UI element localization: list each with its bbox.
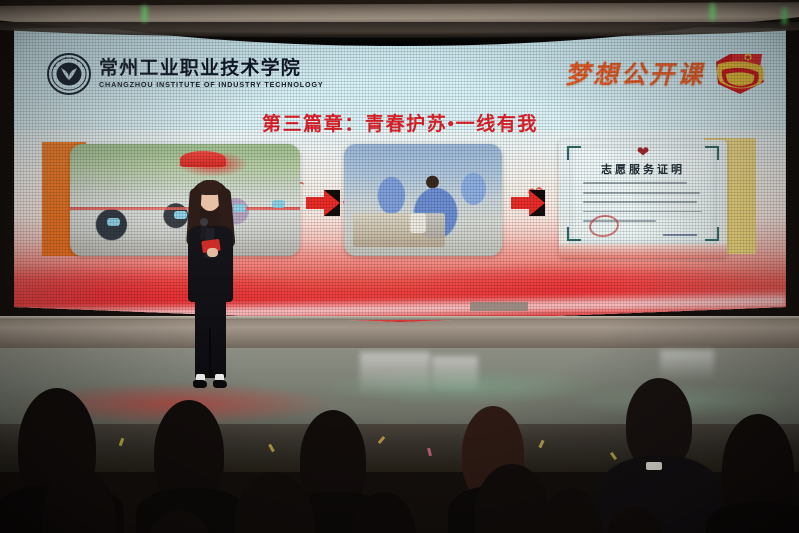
program-brand-block: 梦想公开课: [565, 48, 768, 98]
screen-gray-marker: [470, 302, 528, 311]
speaker-on-stage: [176, 178, 244, 390]
auditorium-scene: 常州工业职业技术学院 CHANGZHOU INSTITUTE OF INDUST…: [0, 0, 799, 533]
canopy-shape: [180, 151, 226, 167]
institution-name-en: CHANGZHOU INSTITUTE OF INDUSTRY TECHNOLO…: [99, 81, 324, 88]
certificate-corner: [567, 146, 581, 160]
certificate-corner: [705, 146, 719, 160]
certificate-text-line: [583, 182, 687, 184]
floor-reflection: [660, 350, 714, 380]
microphone-head-icon: [200, 218, 208, 226]
photo-medical-workers: [344, 144, 502, 256]
supply-table: [353, 213, 445, 247]
certificate-text-line: [583, 201, 697, 203]
stage-edge: [0, 316, 799, 320]
institution-logo-block: 常州工业职业技术学院 CHANGZHOU INSTITUTE OF INDUST…: [46, 52, 324, 96]
led-video-wall: 常州工业职业技术学院 CHANGZHOU INSTITUTE OF INDUST…: [14, 22, 786, 322]
arrow-right-icon: [306, 190, 340, 216]
certificate-footer-art: [559, 244, 727, 258]
certificate-text-line: [583, 192, 701, 194]
communist-youth-league-emblem-icon: [710, 48, 768, 98]
ceiling-light-icon: [142, 6, 147, 22]
program-brand-text: 梦想公开课: [565, 55, 705, 91]
face-mask-icon: [107, 218, 120, 226]
audience-collar: [646, 462, 662, 470]
certificate-corner: [705, 227, 719, 241]
certificate-corner: [567, 227, 581, 241]
face-mask-icon: [272, 200, 285, 208]
slide-content-band: ❤ 志愿服务证明: [14, 142, 786, 262]
certificate-title: 志愿服务证明: [559, 161, 727, 177]
slide-title: 第三篇章：青春护苏•一线有我: [14, 109, 786, 136]
changzhou-institute-crest-icon: [46, 52, 92, 96]
ceiling-light-icon: [710, 4, 715, 20]
institution-name-cn: 常州工业职业技术学院: [99, 59, 324, 78]
ceiling-light-icon: [782, 8, 787, 24]
arrow-right-icon: [511, 190, 545, 216]
photo-certificate: ❤ 志愿服务证明: [559, 140, 727, 258]
heart-icon: ❤: [637, 145, 650, 160]
audience-seating: [0, 380, 799, 533]
stage-apron-wall: [0, 318, 799, 350]
audience-member: [540, 488, 602, 533]
certificate-signature: [663, 234, 697, 236]
supply-bag: [410, 213, 426, 233]
slide-surface: 常州工业职业技术学院 CHANGZHOU INSTITUTE OF INDUST…: [14, 22, 786, 322]
